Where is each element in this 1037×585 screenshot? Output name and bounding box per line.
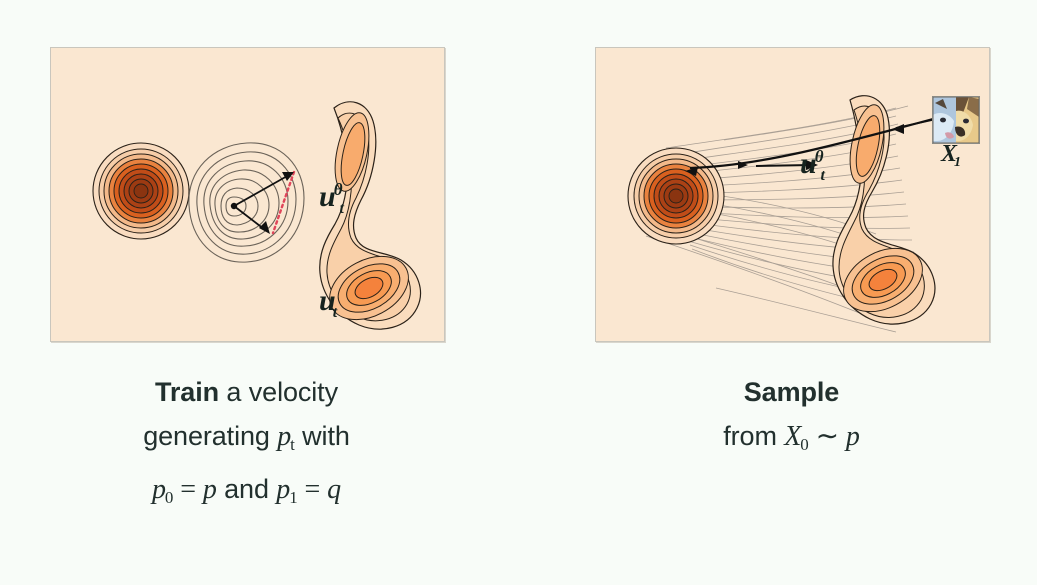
caption-train-line2: generating pt with (50, 414, 443, 467)
label-u-theta-sample: uθt (800, 148, 825, 184)
label-u-t-train: ut (319, 286, 337, 321)
caption-sample-line1: Sample (595, 370, 988, 414)
caption-sample: Sample from X0 ∼ p (595, 370, 988, 467)
caption-train-line3: p0 = p and p1 = q (50, 467, 443, 520)
husky-dog-icon (933, 97, 979, 143)
source-distribution-contours (93, 143, 189, 239)
train-diagram (51, 48, 444, 341)
label-u-theta-train: uθt (319, 181, 344, 217)
slide-root: uθt ut (0, 0, 1037, 585)
caption-train: Train a velocity generating pt with p0 =… (50, 370, 443, 520)
label-x1: X1 (941, 142, 961, 170)
sample-diagram (596, 48, 989, 341)
figure-panel-train: uθt ut (50, 47, 445, 342)
target-distribution-contours (833, 96, 935, 325)
figure-panel-sample (595, 47, 990, 342)
husky-dog-photo-thumbnail (932, 96, 980, 144)
caption-train-keyword: Train (155, 377, 219, 407)
caption-train-line1: Train a velocity (50, 370, 443, 414)
intermediate-distribution-contours (189, 143, 304, 262)
caption-sample-line2: from X0 ∼ p (595, 414, 988, 467)
source-distribution-contours (628, 148, 724, 244)
caption-sample-keyword: Sample (744, 377, 839, 407)
